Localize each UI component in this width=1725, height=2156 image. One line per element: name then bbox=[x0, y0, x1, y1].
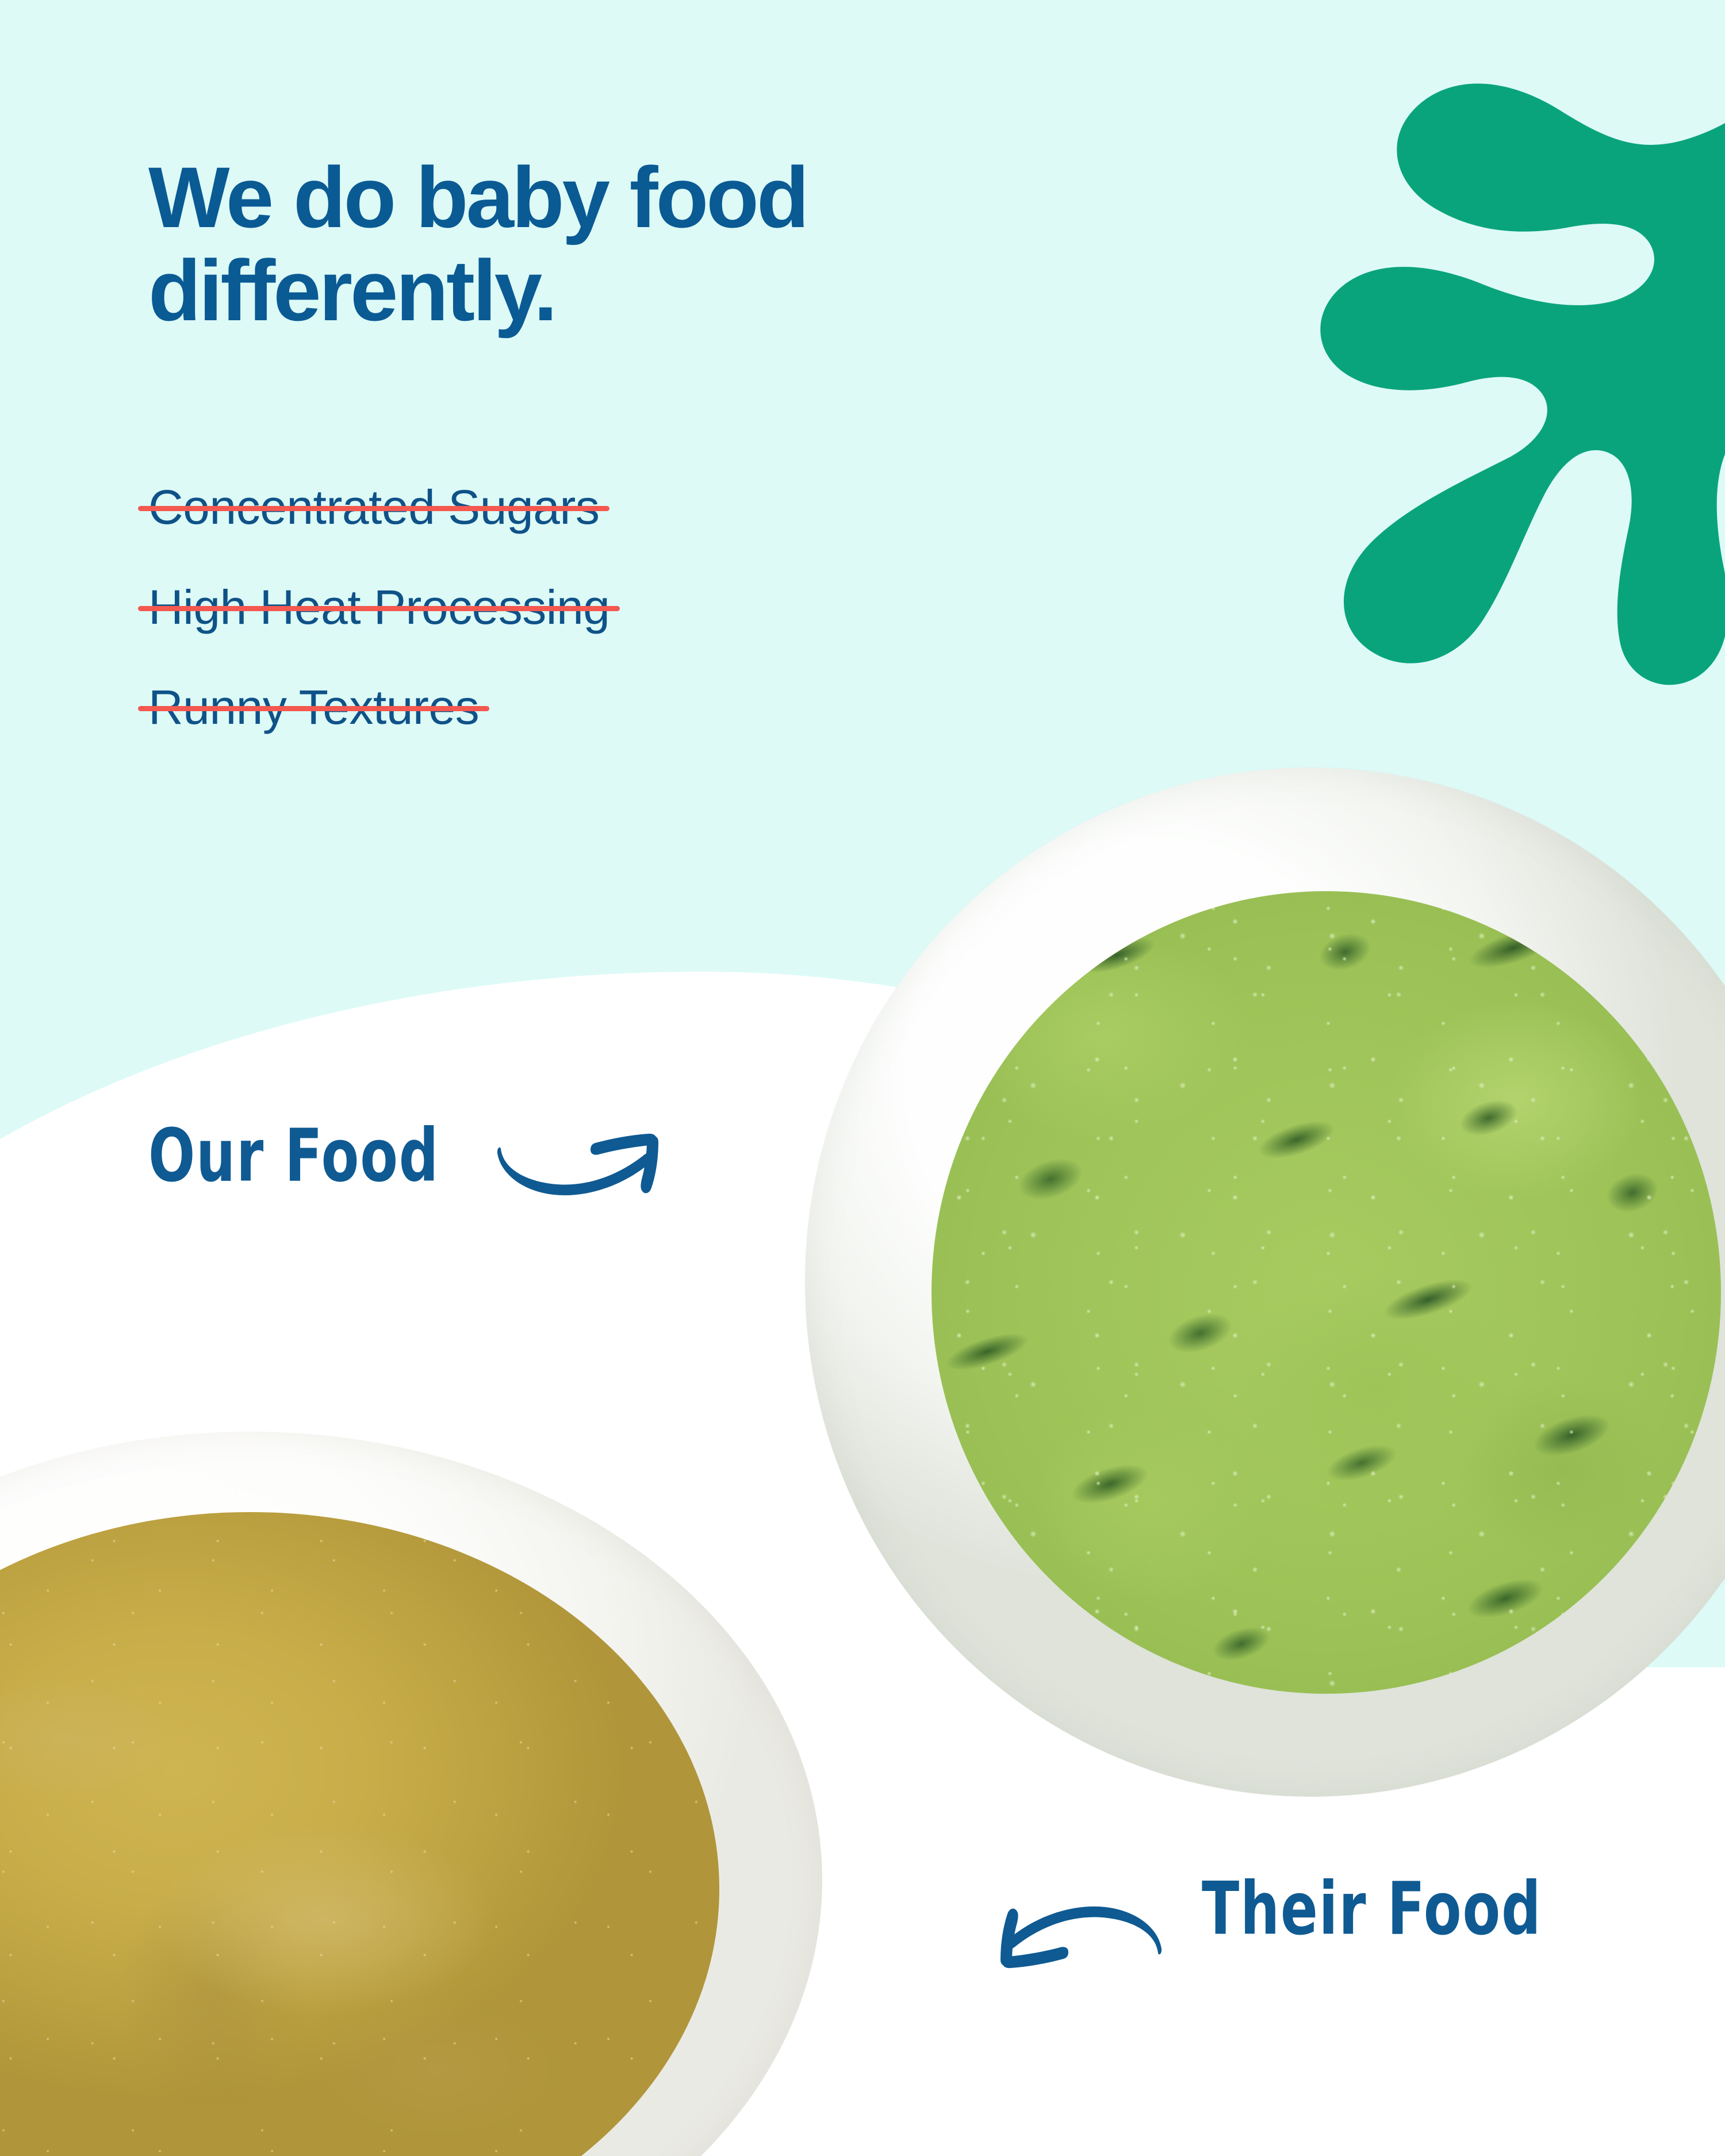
list-item: Runny Textures bbox=[148, 683, 1011, 731]
our-food-arrow-icon bbox=[497, 1121, 676, 1225]
headline-line-2: differently. bbox=[148, 244, 1160, 337]
yellow-smooth-puree bbox=[0, 1512, 719, 2156]
our-food-label: Our Food bbox=[148, 1112, 439, 1198]
page-title: We do baby food differently. bbox=[148, 151, 1160, 337]
headline-line-1: We do baby food bbox=[148, 151, 1160, 244]
their-food-bowl bbox=[0, 1432, 822, 2156]
poster-canvas: We do baby food differently. Concentrate… bbox=[0, 0, 1725, 2156]
strikethrough-rule bbox=[138, 506, 609, 511]
list-item: Concentrated Sugars bbox=[148, 483, 1011, 531]
strikethrough-rule bbox=[138, 706, 489, 711]
green-chunky-puree bbox=[931, 891, 1721, 1694]
our-food-bowl bbox=[805, 768, 1725, 1797]
matisse-leaf-icon bbox=[1236, 69, 1725, 678]
their-food-arrow-icon bbox=[1000, 1883, 1161, 1986]
strikethrough-rule bbox=[138, 606, 620, 611]
excluded-attributes-list: Concentrated Sugars High Heat Processing… bbox=[148, 483, 1011, 783]
list-item: High Heat Processing bbox=[148, 583, 1011, 631]
their-food-label: Their Food bbox=[1202, 1866, 1542, 1951]
